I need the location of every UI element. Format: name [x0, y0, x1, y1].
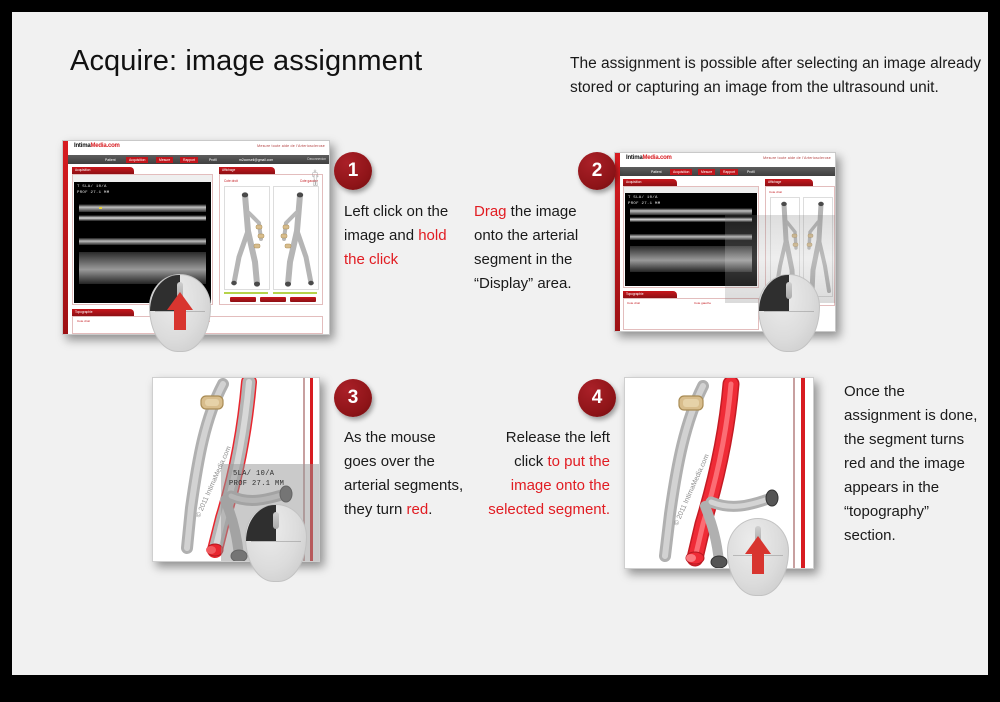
- mouse-release-arrow-icon: [740, 534, 776, 581]
- acquisition-panel: T 5LA/ 10/A PROF 27.1 MM: [623, 186, 759, 288]
- mouse-cursor-step4: [727, 518, 789, 596]
- mouse-wheel: [273, 512, 279, 529]
- mouse-cursor-step3: [245, 504, 307, 582]
- app-header: IntimaMedia.com Mesure toute aide de l'A…: [68, 141, 329, 155]
- overlay-measure-line1: 5LA/ 10/A: [233, 470, 274, 478]
- slide-frame: Acquire: image assignment The assignment…: [12, 12, 988, 675]
- panel-bar-topography: Topographie: [72, 309, 134, 316]
- topo-label-left: Cote droit: [627, 301, 640, 305]
- panel-title-topography: Topographie: [72, 309, 134, 316]
- step-3-text-plain: As the mouse goes over the arterial segm…: [344, 429, 463, 518]
- label-cote-droit: Cote droit: [224, 179, 238, 183]
- app-logo-prefix: Intima: [626, 155, 642, 161]
- button-mesure[interactable]: [230, 297, 256, 302]
- nav-item-mesure[interactable]: Mesure: [156, 157, 173, 163]
- ultrasound-overlay-line2: PROF 27.1 MM: [628, 202, 660, 206]
- nav-email: m2conseil@gmail.com: [236, 157, 276, 163]
- step-badge-3-number: 3: [348, 387, 359, 409]
- step-badge-4-number: 4: [592, 387, 603, 409]
- nav-item-patient[interactable]: Patient: [102, 157, 119, 163]
- panel-bar-display: Affichage: [219, 167, 275, 174]
- nav-item-rapport[interactable]: Rapport: [180, 157, 198, 163]
- step-2-text: Drag the image onto the arterial segment…: [474, 200, 600, 296]
- mouse-divider: [764, 311, 814, 312]
- mouse-cursor-step2: [758, 274, 820, 352]
- conclusion-text: Once the assignment is done, the segment…: [844, 380, 980, 548]
- mouse-left-button-pressed: [246, 505, 276, 541]
- nav-item-rapport[interactable]: Rapport: [720, 169, 738, 175]
- artery-tree-right[interactable]: [273, 186, 319, 290]
- app-left-accent-bar: [615, 153, 620, 331]
- ultrasound-overlay-line1: T 5LA/ 10/A: [77, 185, 107, 189]
- panel-title-acquisition: Acquisition: [623, 179, 677, 186]
- body-silhouette-icon: [310, 169, 320, 187]
- app-left-accent-bar: [63, 141, 68, 334]
- red-scrollbar-accent: [793, 378, 795, 568]
- step-4-text-tail: .: [606, 501, 610, 518]
- step-badge-2: 2: [578, 152, 616, 190]
- ultrasound-overlay-line2: PROF 27.1 MM: [77, 191, 109, 195]
- display-panel[interactable]: Cote droit Cote gauche: [219, 174, 323, 305]
- panel-bar-topography: Topographie: [623, 291, 677, 298]
- step-4-text-highlight: to put the image onto the selected segme…: [488, 453, 610, 518]
- nav-item-profil[interactable]: Profil: [744, 169, 758, 175]
- step-badge-1-number: 1: [348, 160, 359, 182]
- app-logo: IntimaMedia.com: [74, 143, 120, 149]
- mouse-divider: [251, 541, 301, 542]
- step-4-text: Release the left click to put the image …: [478, 426, 610, 522]
- nav-item-patient[interactable]: Patient: [648, 169, 665, 175]
- topo-label-left: Cote droit: [77, 319, 90, 323]
- panel-bar-display: Affichage: [765, 179, 813, 186]
- button-mesurer[interactable]: [260, 297, 286, 302]
- topography-panel: Cote droit Cote gauche: [623, 298, 759, 330]
- step-badge-1: 1: [334, 152, 372, 190]
- mouse-cursor-step1: [149, 274, 211, 352]
- button-supprimer[interactable]: [290, 297, 316, 302]
- app-tagline: Mesure toute aide de l'Arteriosclerose: [257, 144, 325, 148]
- panel-title-acquisition: Acquisition: [72, 167, 134, 174]
- step-3-text-tail: .: [428, 501, 432, 518]
- app-logo-suffix: Media.com: [90, 143, 119, 149]
- red-accent-line: [801, 378, 805, 568]
- app-navbar[interactable]: Patient Acquisition Mesure Rapport Profi…: [620, 167, 835, 176]
- nav-item-acquisition[interactable]: Acquisition: [670, 169, 692, 175]
- mouse-left-button-pressed: [759, 275, 789, 311]
- panel-bar-acquisition: Acquisition: [623, 179, 677, 186]
- step-3-text: As the mouse goes over the arterial segm…: [344, 426, 464, 522]
- nav-item-acquisition[interactable]: Acquisition: [126, 157, 148, 163]
- mouse-wheel: [786, 282, 792, 299]
- panel-title-topography: Topographie: [623, 291, 677, 298]
- app-logo-suffix: Media.com: [642, 155, 671, 161]
- nav-logout[interactable]: Deconnexion: [307, 157, 326, 161]
- intro-paragraph: The assignment is possible after selecti…: [570, 52, 982, 100]
- topo-label-right: Cote gauche: [694, 301, 711, 305]
- page-title: Acquire: image assignment: [70, 45, 422, 78]
- app-navbar[interactable]: Patient Acquisition Mesure Rapport Profi…: [68, 155, 329, 164]
- artery-tree-left[interactable]: [224, 186, 270, 290]
- ultrasound-overlay-line1: T 5LA/ 10/A: [628, 196, 658, 200]
- step-2-text-highlight: Drag: [474, 203, 507, 220]
- step-badge-2-number: 2: [592, 160, 603, 182]
- step-badge-3: 3: [334, 379, 372, 417]
- app-logo: IntimaMedia.com: [626, 155, 672, 161]
- step-3-text-highlight: red: [407, 501, 429, 518]
- ultrasound-image[interactable]: T 5LA/ 10/A PROF 27.1 MM: [625, 193, 757, 286]
- step-1-text: Left click on the image and hold the cli…: [344, 200, 462, 272]
- app-logo-prefix: Intima: [74, 143, 90, 149]
- nav-item-profil[interactable]: Profil: [206, 157, 220, 163]
- nav-item-mesure[interactable]: Mesure: [698, 169, 715, 175]
- panel-title-display: Affichage: [765, 179, 813, 186]
- label-cote-droit: Cote droit: [769, 190, 782, 194]
- app-header: IntimaMedia.com Mesure toute aide de l'A…: [620, 153, 835, 167]
- panel-title-display: Affichage: [219, 167, 275, 174]
- app-tagline: Mesure toute aide de l'Arteriosclerose: [763, 156, 831, 160]
- step-badge-4: 4: [578, 379, 616, 417]
- mouse-click-arrow-icon: [162, 290, 198, 337]
- overlay-measure-line2: PROF 27.1 MM: [229, 480, 284, 488]
- panel-bar-acquisition: Acquisition: [72, 167, 134, 174]
